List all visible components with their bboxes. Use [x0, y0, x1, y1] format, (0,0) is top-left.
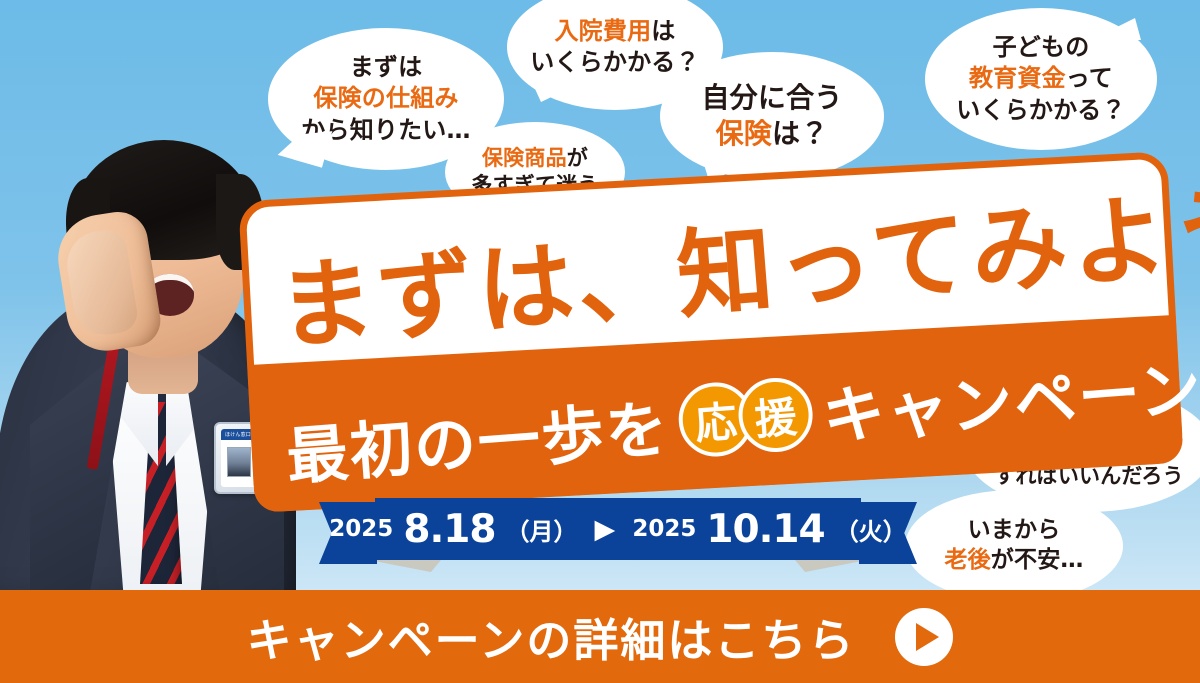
bubble-text-segment: が不安… [991, 547, 1084, 573]
support-badge-char-2: 援 [736, 375, 815, 454]
ribbon-fold-right [795, 560, 867, 572]
speech-bubble-right-insurance: 自分に合う保険は？ [660, 52, 884, 180]
bubble-text-segment: 保険 [716, 117, 772, 150]
bubble-text-segment: 自分に合う [701, 81, 842, 114]
bubble-text-segment: って [1066, 64, 1113, 92]
campaign-period-ribbon: 2025 8.18 （月） ▶ 2025 10.14 （火） [333, 498, 903, 570]
bubble-text-segment: いくらかかる？ [530, 48, 699, 76]
bubble-line: 自分に合う [701, 80, 842, 116]
badge-portrait-icon [227, 447, 251, 477]
bubble-text-segment: いくらかかる？ [956, 96, 1125, 124]
speech-bubble-retirement-worry: いまから老後が不安… [905, 490, 1123, 602]
bubble-line: 入院費用は [554, 16, 675, 47]
campaign-banner: ほけん窓口 まずは保険の仕組みから知りたい… 入院費用はいくらかかる？ 保険商品… [0, 0, 1200, 683]
bubble-text-segment: は？ [772, 117, 828, 150]
bubble-line: まずは [350, 52, 423, 83]
arrow-triangle [916, 623, 939, 651]
bubble-text-segment: 保険商品 [482, 146, 567, 170]
ribbon-fold-left [369, 560, 441, 572]
bubble-line: 保険商品が [482, 145, 588, 172]
bubble-tail [531, 80, 587, 102]
bubble-text-segment: 保険の仕組み [313, 84, 458, 112]
bubble-line: 保険の仕組み [313, 83, 458, 114]
bubble-line: いくらかかる？ [956, 95, 1125, 126]
ribbon-body: 2025 8.18 （月） ▶ 2025 10.14 （火） [375, 498, 861, 560]
bubble-line: 子どもの [993, 32, 1090, 63]
bubble-tail [1091, 18, 1141, 40]
cta-bar[interactable]: キャンペーンの詳細はこちら [0, 590, 1200, 683]
end-weekday: （火） [835, 512, 907, 547]
bubble-line: いくらかかる？ [530, 47, 699, 78]
bubble-text-segment: 老後 [944, 547, 990, 573]
start-weekday: （月） [506, 512, 578, 547]
bubble-text-segment: いまから [968, 517, 1061, 543]
bubble-text-segment: まずは [350, 53, 423, 81]
start-year: 2025 [329, 516, 393, 542]
end-date: 10.14 [706, 507, 824, 552]
end-year: 2025 [632, 516, 696, 542]
cta-label: キャンペーンの詳細はこちら [247, 604, 856, 669]
headline-plate: まずは、知ってみよう！ 最初の一歩を 応 援 キャンペーン [238, 151, 1184, 513]
play-arrow-icon[interactable] [895, 608, 953, 666]
bubble-line: 保険は？ [716, 116, 829, 152]
badge-company-label: ほけん窓口 [221, 431, 251, 438]
bubble-line: 老後が不安… [944, 546, 1083, 576]
bubble-text-segment: 子どもの [993, 33, 1090, 61]
bubble-text-segment: 教育資金 [969, 64, 1066, 92]
start-date: 8.18 [403, 507, 495, 552]
period-arrow-icon: ▶ [595, 514, 616, 545]
bubble-text-segment: が [567, 146, 588, 170]
speech-bubble-education-funds: 子どもの教育資金っていくらかかる？ [925, 8, 1157, 150]
support-badge: 応 援 [676, 375, 815, 459]
bubble-text-segment: は [651, 17, 675, 45]
bubble-text-segment: 入院費用 [554, 17, 651, 45]
bubble-line: 教育資金って [969, 63, 1113, 94]
bubble-line: いまから [968, 516, 1061, 546]
